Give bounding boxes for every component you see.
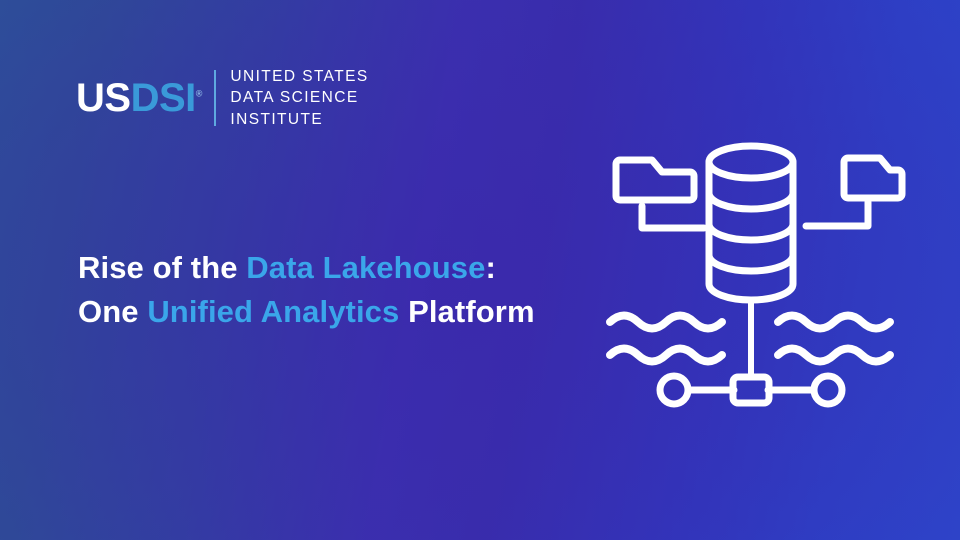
logo-divider xyxy=(214,70,216,126)
connector-left xyxy=(642,206,704,228)
node-center-box xyxy=(733,377,769,403)
logo-fullname-line-3: INSTITUTE xyxy=(230,109,368,130)
logo-fullname: UNITED STATES DATA SCIENCE INSTITUTE xyxy=(230,66,368,130)
logo-fullname-line-1: UNITED STATES xyxy=(230,66,368,87)
headline-line-1-highlight: Data Lakehouse xyxy=(246,250,485,285)
node-circle-right xyxy=(814,376,842,404)
water-waves-left xyxy=(610,316,722,362)
headline-line-1-text-a: Rise of the xyxy=(78,250,246,285)
data-lakehouse-illustration xyxy=(596,136,906,416)
logo-fullname-line-2: DATA SCIENCE xyxy=(230,87,368,108)
registered-trademark-icon: ® xyxy=(196,89,203,99)
connector-right xyxy=(806,202,868,226)
page-title: Rise of the Data Lakehouse: One Unified … xyxy=(78,246,535,334)
headline-line-2-text-b: Platform xyxy=(399,294,534,329)
headline-line-1: Rise of the Data Lakehouse: xyxy=(78,246,535,290)
logo-wordmark: USDSI® xyxy=(76,78,214,118)
headline-line-1-text-b: : xyxy=(485,250,495,285)
headline-line-2: One Unified Analytics Platform xyxy=(78,290,535,334)
usdsi-logo[interactable]: USDSI® UNITED STATES DATA SCIENCE INSTIT… xyxy=(76,66,369,130)
water-waves-right xyxy=(778,316,890,362)
logo-mark-dsi: DSI xyxy=(131,76,196,120)
database-cylinder-icon xyxy=(709,146,793,300)
logo-mark-us: US xyxy=(76,76,131,120)
folder-left-icon xyxy=(616,160,694,200)
node-circle-left xyxy=(660,376,688,404)
folder-right-icon xyxy=(844,158,902,198)
headline-line-2-highlight: Unified Analytics xyxy=(147,294,399,329)
slide-canvas: USDSI® UNITED STATES DATA SCIENCE INSTIT… xyxy=(0,0,960,540)
headline-line-2-text-a: One xyxy=(78,294,147,329)
